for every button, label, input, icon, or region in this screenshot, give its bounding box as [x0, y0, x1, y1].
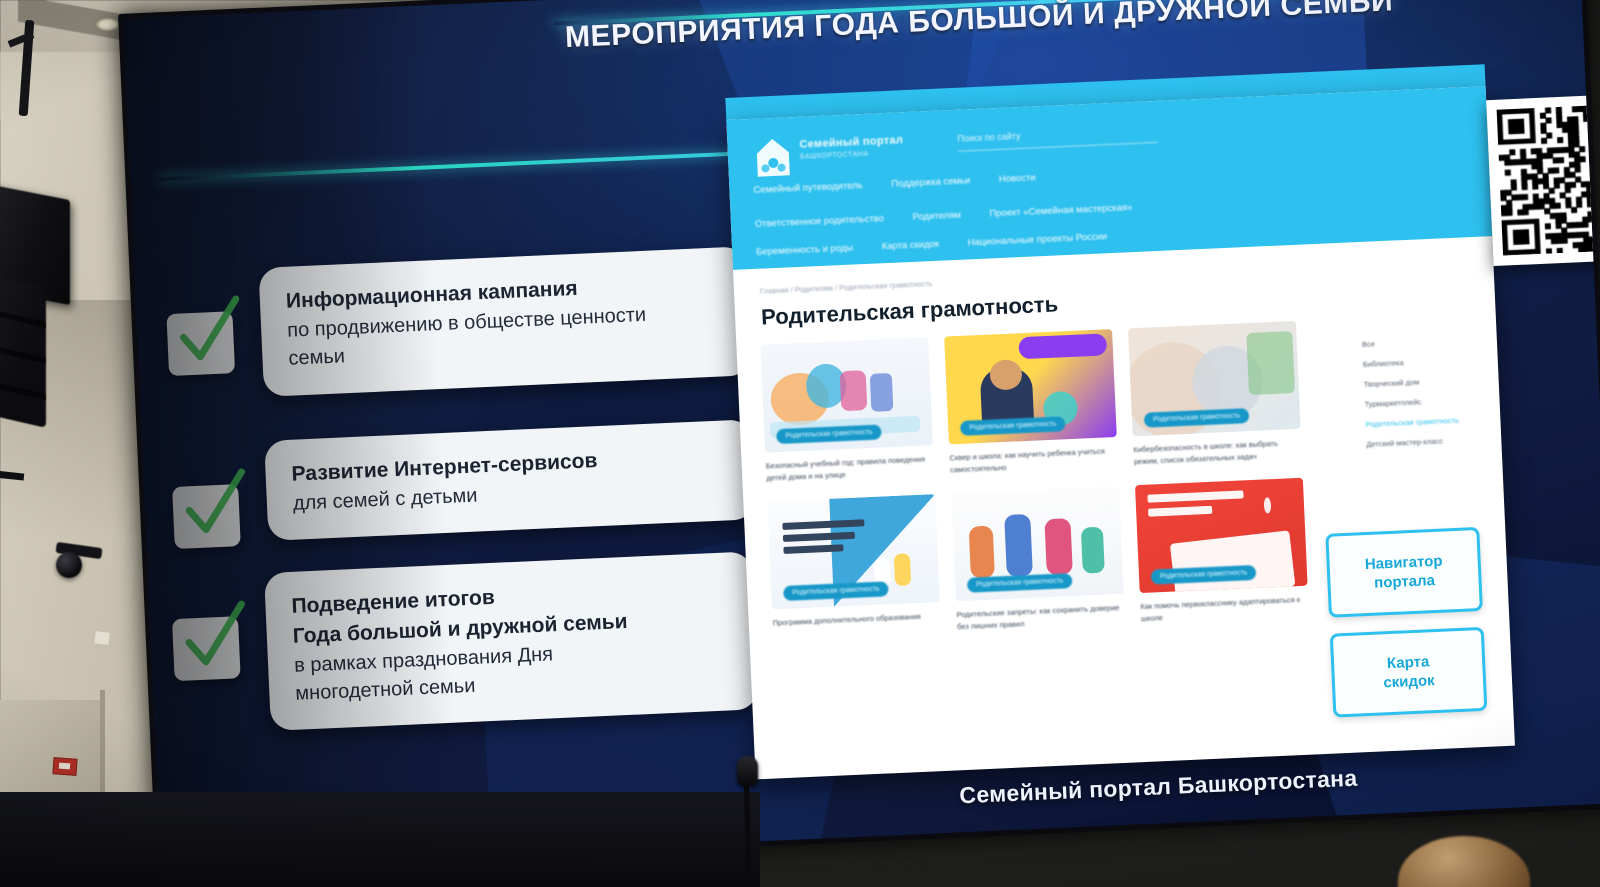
search-input[interactable]: Поиск по сайту [957, 123, 1158, 152]
checklist-item: Развитие Интернет-сервисов для семей с д… [170, 419, 756, 549]
card-thumbnail: Родительская грамотность [951, 486, 1124, 601]
green-check-icon [177, 600, 252, 681]
article-card[interactable]: Родительская грамотность Сквер и школа: … [944, 329, 1118, 476]
card-caption: Безопасный учебный год: правила поведени… [766, 453, 935, 484]
filter-item[interactable]: Библиотека [1363, 354, 1493, 369]
security-camera-icon [56, 552, 82, 578]
site-nav-row-bottom[interactable]: Беременность и роды Карта скидок Национа… [756, 230, 1133, 258]
navigator-portal-line2: портала [1365, 571, 1443, 594]
discount-map-line1: Карта [1382, 652, 1434, 674]
nav-item[interactable]: Родителям [912, 210, 961, 223]
breadcrumb[interactable]: Главная / Родителям / Родительская грамо… [760, 279, 933, 296]
audience-person-head [1398, 836, 1530, 887]
filter-item[interactable]: Творческий дом [1364, 374, 1494, 389]
filter-item-selected[interactable]: Родительская грамотность [1365, 414, 1495, 429]
site-brand[interactable]: Семейный портал БАШКОРТОСТАНА [799, 134, 904, 161]
nav-item[interactable]: Беременность и роды [756, 243, 853, 258]
card-row: Родительская грамотность Безопасный учеб… [760, 321, 1306, 484]
card-badge: Родительская грамотность [1144, 408, 1250, 428]
filter-list: Все Библиотека Творческий дом Турмаркетп… [1322, 334, 1497, 461]
card-caption: Как помочь первокласснику адаптироваться… [1140, 594, 1309, 625]
microphone-icon [737, 756, 758, 786]
photo-scene: МЕРОПРИЯТИЯ ГОДА БОЛЬШОЙ И ДРУЖНОЙ СЕМЬИ… [0, 0, 1600, 887]
article-card[interactable]: Родительская грамотность Безопасный учеб… [760, 337, 934, 484]
nav-item[interactable]: Новости [999, 172, 1036, 185]
site-nav-row-top[interactable]: Семейный путеводитель Поддержка семьи Но… [753, 171, 1062, 196]
discount-map-line2: скидок [1383, 671, 1435, 693]
card-thumbnail: Родительская грамотность [944, 329, 1117, 444]
card-badge: Родительская грамотность [776, 424, 882, 444]
article-card[interactable]: Родительская грамотность Программа допол… [767, 494, 941, 641]
card-caption: Программа дополнительного образования [773, 610, 941, 629]
nav-item[interactable]: Семейный путеводитель [753, 180, 863, 196]
checklist-item: Подведение итогов Года большой и дружной… [170, 551, 758, 735]
nav-item[interactable]: Карта скидок [882, 239, 940, 253]
nav-item[interactable]: Ответственное родительство [755, 213, 885, 230]
checklist-item: Информационная кампания по продвижению в… [165, 246, 752, 400]
article-card[interactable]: Родительская грамотность Как помочь перв… [1135, 478, 1309, 625]
navigator-portal-button[interactable]: Навигатор портала [1325, 527, 1483, 618]
checkbox[interactable] [172, 616, 241, 681]
filter-item[interactable]: Все [1362, 334, 1492, 349]
ceiling-light-icon [96, 18, 120, 31]
green-check-icon [172, 295, 247, 376]
card-thumbnail: Родительская грамотность [760, 337, 933, 452]
card-thumbnail: Родительская грамотность [1135, 478, 1308, 593]
nav-item[interactable]: Поддержка семьи [891, 175, 970, 190]
checklist-card: Информационная кампания по продвижению в… [258, 246, 751, 396]
foreground-table [0, 792, 760, 887]
fire-alarm-box-icon [52, 757, 77, 776]
card-thumbnail: Родительская грамотность [767, 494, 940, 609]
page-title: Родительская грамотность [761, 291, 1059, 330]
article-card-grid: Родительская грамотность Безопасный учеб… [760, 321, 1313, 659]
nav-item[interactable]: Национальные проекты России [967, 231, 1107, 248]
checkbox[interactable] [166, 311, 235, 376]
qr-code-icon [1497, 103, 1600, 256]
article-card[interactable]: Родительская грамотность Кибербезопаснос… [1128, 321, 1302, 468]
site-nav-row-middle[interactable]: Ответственное родительство Родителям Про… [755, 201, 1159, 230]
card-badge: Родительская грамотность [960, 416, 1066, 436]
checklist-card: Подведение итогов Года большой и дружной… [264, 551, 759, 731]
article-card[interactable]: Родительская грамотность Родительские за… [951, 486, 1125, 633]
nav-item[interactable]: Проект «Семейная мастерская» [989, 202, 1132, 219]
website-screenshot: Семейный портал БАШКОРТОСТАНА Поиск по с… [726, 86, 1515, 779]
card-caption: Родительские запреты: как сохранить дове… [956, 602, 1125, 633]
presentation-screen: МЕРОПРИЯТИЯ ГОДА БОЛЬШОЙ И ДРУЖНОЙ СЕМЬИ… [118, 0, 1600, 875]
brand-subtitle: БАШКОРТОСТАНА [800, 149, 904, 161]
green-check-icon [177, 468, 252, 549]
card-row: Родительская грамотность Программа допол… [767, 478, 1313, 641]
qr-code-card[interactable] [1486, 92, 1600, 266]
wall-plate [94, 631, 109, 644]
screen-surface: МЕРОПРИЯТИЯ ГОДА БОЛЬШОЙ И ДРУЖНОЙ СЕМЬИ… [123, 0, 1600, 868]
card-caption: Сквер и школа: как научить ребенка учить… [949, 445, 1118, 476]
card-thumbnail: Родительская грамотность [1128, 321, 1301, 436]
filter-item[interactable]: Турмаркетплейс [1364, 394, 1494, 409]
discount-map-button[interactable]: Карта скидок [1330, 627, 1488, 718]
card-caption: Кибербезопасность в школе: как выбрать р… [1133, 437, 1302, 468]
filter-item[interactable]: Детский мастер-класс [1366, 434, 1496, 449]
family-house-logo-icon [753, 135, 793, 181]
checklist-card: Развитие Интернет-сервисов для семей с д… [264, 419, 756, 541]
checkbox[interactable] [172, 484, 241, 549]
card-badge: Родительская грамотность [967, 573, 1073, 593]
brand-name: Семейный портал [799, 134, 903, 151]
